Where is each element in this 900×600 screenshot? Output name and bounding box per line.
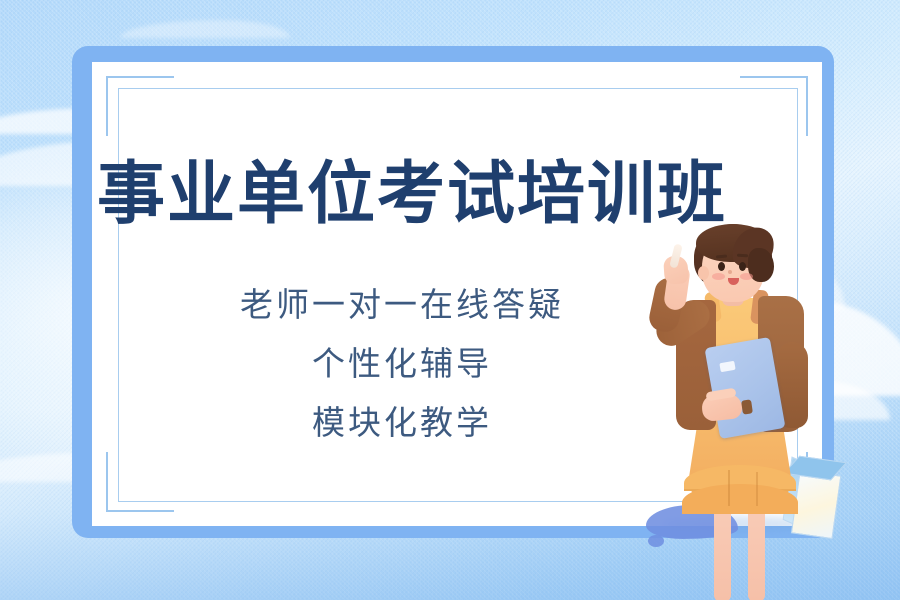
subtitle-list: 老师一对一在线答疑 个性化辅导 模块化教学 (92, 290, 712, 441)
poster-canvas: 事业单位考试培训班 老师一对一在线答疑 个性化辅导 模块化教学 (0, 0, 900, 600)
character-eye-right (739, 262, 746, 271)
teacher-illustration (636, 222, 836, 600)
character-ear (698, 266, 709, 280)
character-cheek-right (740, 273, 753, 280)
character-eye-left (718, 262, 725, 271)
character-skirt-ruffle (682, 484, 798, 514)
subtitle-line-1: 老师一对一在线答疑 (92, 290, 712, 323)
subtitle-line-3: 模块化教学 (92, 408, 712, 441)
character-nose (728, 270, 732, 274)
subtitle-line-2: 个性化辅导 (92, 349, 712, 382)
character-skirt-fold (728, 470, 730, 506)
character-skirt-fold (756, 472, 758, 506)
page-title: 事业单位考试培训班 (92, 160, 732, 228)
character-wrist-cuff (741, 399, 753, 414)
character-cheek-left (712, 273, 725, 280)
